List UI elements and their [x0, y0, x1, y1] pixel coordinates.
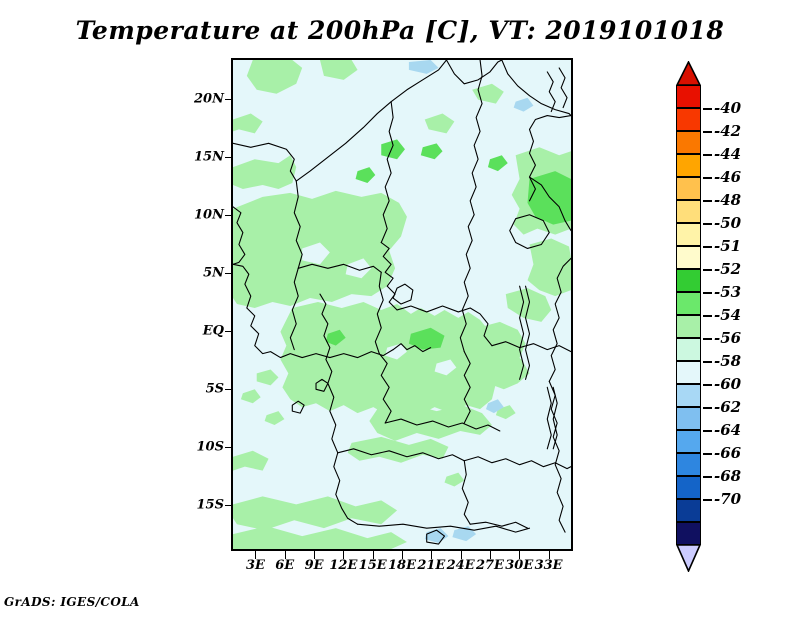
colorbar-tick [703, 223, 712, 225]
colorbar-band [676, 361, 701, 384]
colorbar-band [676, 430, 701, 453]
page-title: Temperature at 200hPa [C], VT: 201910101… [0, 16, 800, 45]
colorbar-tick [703, 292, 712, 294]
y-axis-label: 10N [176, 207, 224, 222]
y-axis-tick [225, 157, 233, 158]
y-axis-label: 5N [176, 265, 224, 280]
colorbar-tick-label: -64 [714, 421, 741, 439]
colorbar-tick-label: -56 [714, 329, 741, 347]
colorbar-tick [703, 499, 712, 501]
colorbar-tick-label: -50 [714, 214, 741, 232]
colorbar-tick-label: -52 [714, 260, 741, 278]
colorbar-tick-label: -40 [714, 99, 741, 117]
colorbar-band [676, 108, 701, 131]
y-axis-tick [225, 447, 233, 448]
x-axis-label: 33E [529, 558, 569, 573]
colorbar-band [676, 522, 701, 545]
colorbar-tick [703, 430, 712, 432]
colorbar-band [676, 384, 701, 407]
colorbar-tick-label: -70 [714, 490, 741, 508]
colorbar-band [676, 246, 701, 269]
colorbar-band [676, 131, 701, 154]
colorbar-band [676, 269, 701, 292]
y-axis-tick [225, 389, 233, 390]
colorbar-tick [703, 269, 712, 271]
colorbar-tick [703, 453, 712, 455]
colorbar-tick [703, 361, 712, 363]
colorbar-tick-label: -48 [714, 191, 741, 209]
colorbar-band [676, 499, 701, 522]
colorbar-tick-label: -62 [714, 398, 741, 416]
colorbar-tick [703, 338, 712, 340]
colorbar-tick [703, 154, 712, 156]
colorbar-tick [703, 177, 712, 179]
colorbar-tick-label: -54 [714, 306, 741, 324]
colorbar-tick [703, 108, 712, 110]
colorbar-band [676, 85, 701, 108]
y-axis-label: 15N [176, 149, 224, 164]
colorbar-band [676, 476, 701, 499]
colorbar-tick [703, 200, 712, 202]
colorbar-band [676, 315, 701, 338]
y-axis-label: 20N [176, 91, 224, 106]
colorbar-tick [703, 315, 712, 317]
colorbar-tick-label: -60 [714, 375, 741, 393]
y-axis-tick [225, 505, 233, 506]
y-axis-label: 5S [176, 381, 224, 396]
colorbar-band [676, 338, 701, 361]
map-plot-area [231, 58, 573, 551]
colorbar[interactable] [676, 85, 701, 545]
colorbar-over-arrow [676, 61, 701, 86]
y-axis-tick [225, 273, 233, 274]
colorbar-tick [703, 131, 712, 133]
colorbar-tick-label: -46 [714, 168, 741, 186]
colorbar-band [676, 223, 701, 246]
colorbar-tick [703, 476, 712, 478]
colorbar-tick [703, 407, 712, 409]
y-axis-tick [225, 331, 233, 332]
colorbar-under-arrow [676, 544, 701, 572]
y-axis-label: EQ [176, 323, 224, 338]
y-axis-tick [225, 99, 233, 100]
colorbar-tick [703, 384, 712, 386]
grads-credit: GrADS: IGES/COLA [4, 595, 140, 609]
y-axis-label: 10S [176, 439, 224, 454]
colorbar-band [676, 453, 701, 476]
colorbar-band [676, 154, 701, 177]
colorbar-tick-label: -51 [714, 237, 741, 255]
temperature-field-map [233, 60, 571, 549]
colorbar-tick-label: -66 [714, 444, 741, 462]
colorbar-tick [703, 246, 712, 248]
y-axis-tick [225, 215, 233, 216]
colorbar-band [676, 407, 701, 430]
colorbar-band [676, 200, 701, 223]
colorbar-tick-label: -42 [714, 122, 741, 140]
y-axis-label: 15S [176, 497, 224, 512]
colorbar-band [676, 292, 701, 315]
colorbar-tick-label: -58 [714, 352, 741, 370]
colorbar-tick-label: -44 [714, 145, 741, 163]
colorbar-tick-label: -68 [714, 467, 741, 485]
colorbar-tick-label: -53 [714, 283, 741, 301]
colorbar-band [676, 177, 701, 200]
